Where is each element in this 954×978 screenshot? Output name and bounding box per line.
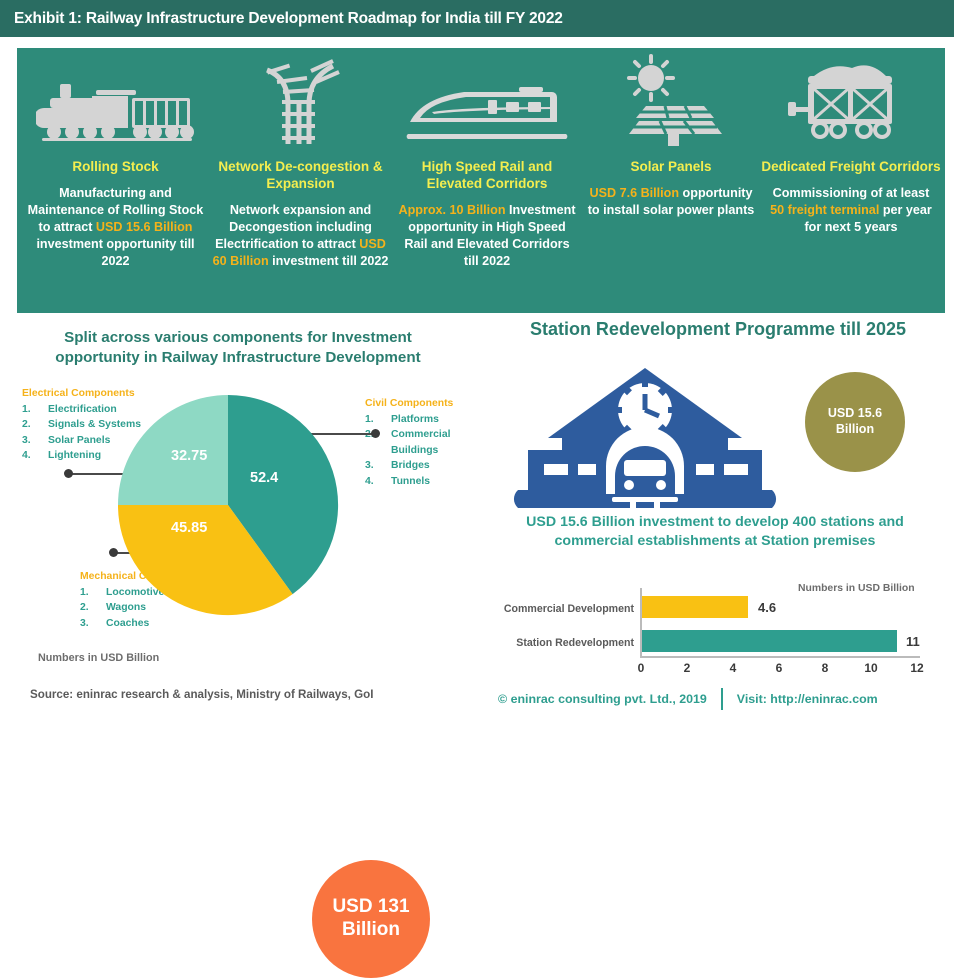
x-tick-label: 6 [769,661,789,675]
bar-station-redevelopment [642,630,897,652]
station-bar-chart: Commercial Development Station Redevelop… [488,582,948,677]
legend-item: Platforms [365,412,480,428]
exhibit-title-bar: Exhibit 1: Railway Infrastructure Develo… [0,0,954,37]
pillar-rolling-stock: Rolling Stock Manufacturing and Maintena… [23,54,208,309]
station-redevelopment-panel: Station Redevelopment Programme till 202… [480,310,954,715]
bar-value-commercial-development: 4.6 [758,600,776,615]
station-investment-badge: USD 15.6 Billion [805,372,905,472]
railway-station-icon [500,366,790,519]
pillar-title: Rolling Stock [72,159,158,176]
bar-category-label: Commercial Development [488,603,634,615]
station-caption: USD 15.6 Billion investment to develop 4… [505,513,925,551]
leader-dot-electrical [64,469,73,478]
pie-value-electrical: 32.75 [171,448,207,464]
footer-divider [721,688,723,710]
pie-chart-title: Split across various components for Inve… [28,328,448,368]
badge-line-1: USD 131 [332,896,409,919]
pie-value-mechanical: 45.85 [171,520,207,536]
investment-pie-chart: 52.4 45.85 32.75 [113,390,343,620]
x-tick-label: 2 [677,661,697,675]
pillar-body: USD 7.6 Billion opportunity to install s… [581,185,761,219]
badge-line-1: USD 15.6 [828,406,882,422]
leader-dot-civil [371,429,380,438]
x-tick-label: 0 [631,661,651,675]
bar-units-note: Numbers in USD Billion [798,582,915,596]
footer-bar: © eninrac consulting pvt. Ltd., 2019 Vis… [498,688,948,710]
investment-split-panel: Split across various components for Inve… [0,318,480,715]
pillar-title: High Speed Rail and Elevated Corridors [393,159,581,193]
pillar-solar-panels: Solar Panels USD 7.6 Billion opportunity… [581,54,761,309]
visit-link[interactable]: Visit: http://eninrac.com [737,692,878,706]
badge-line-2: Billion [836,422,874,438]
freight-wagon-icon [786,54,916,146]
legend-item: Tunnels [365,474,480,490]
pie-units-note: Numbers in USD Billion [38,652,159,664]
railway-tracks-icon [241,54,361,146]
bar-commercial-development [642,596,748,618]
solar-panel-icon [606,54,736,146]
exhibit-title: Exhibit 1: Railway Infrastructure Develo… [0,10,563,28]
pillar-title: Dedicated Freight Corridors [761,159,940,176]
high-speed-train-icon [402,54,572,146]
x-tick-label: 4 [723,661,743,675]
x-tick-label: 8 [815,661,835,675]
copyright-text: © eninrac consulting pvt. Ltd., 2019 [498,692,707,706]
pie-value-civil: 52.4 [250,470,278,486]
pillar-body: Manufacturing and Maintenance of Rolling… [23,185,208,270]
pillar-title: Network De-congestion & Expansion [208,159,393,193]
legend-civil-components: Civil Components Platforms Commercial Bu… [365,396,480,490]
x-tick-label: 12 [907,661,927,675]
pillar-body: Commissioning of at least 50 freight ter… [761,185,941,236]
pillar-body: Network expansion and Decongestion inclu… [208,202,393,270]
legend-item: Commercial Buildings [365,427,480,458]
x-axis [640,656,920,658]
total-investment-badge: USD 131 Billion [312,860,430,978]
bar-value-station-redevelopment: 11 [906,634,920,649]
station-panel-title: Station Redevelopment Programme till 202… [498,318,938,341]
legend-item: Bridges [365,458,480,474]
source-note: Source: eninrac research & analysis, Min… [30,688,373,701]
badge-line-2: Billion [342,919,400,942]
pillars-banner: Rolling Stock Manufacturing and Maintena… [17,48,945,313]
pillar-body: Approx. 10 Billion Investment opportunit… [393,202,581,270]
pillar-title: Solar Panels [630,159,711,176]
bar-category-label: Station Redevelopment [488,637,634,649]
x-tick-label: 10 [861,661,881,675]
legend-heading: Civil Components [365,396,480,412]
pillar-high-speed-rail: High Speed Rail and Elevated Corridors A… [393,54,581,309]
pillar-freight-corridors: Dedicated Freight Corridors Commissionin… [761,54,941,309]
steam-locomotive-icon [36,54,196,146]
pillar-network-decongestion: Network De-congestion & Expansion Networ… [208,54,393,309]
